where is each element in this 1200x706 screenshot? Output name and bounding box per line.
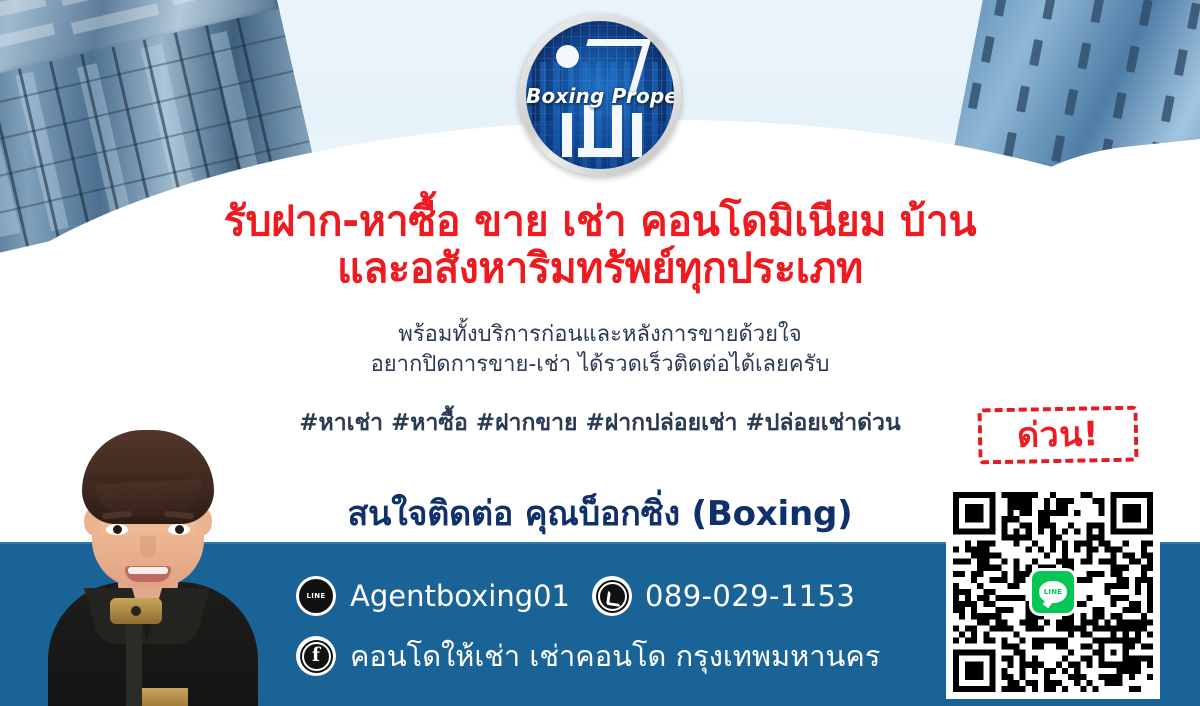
facebook-icon-label: f <box>312 646 320 665</box>
logo-brand-text: Boxing Property <box>526 84 674 108</box>
boxing-property-logo: Boxing Property <box>519 14 681 176</box>
qr-line-badge-icon: LINE <box>1029 568 1077 616</box>
phone-icon[interactable] <box>592 576 632 616</box>
headline-line-1: รับฝาก-หาซื้อ ขาย เช่า คอนโดมิเนียม บ้าน <box>0 198 1200 245</box>
line-icon-label: LINE <box>307 592 326 600</box>
subheadline-line-1: พร้อมทั้งบริการก่อนและหลังการขายด้วยใจ <box>0 320 1200 350</box>
qr-line-badge-label: LINE <box>1044 588 1063 596</box>
headline-line-2: และอสังหาริมทรัพย์ทุกประเภท <box>0 245 1200 292</box>
agent-portrait <box>14 412 282 706</box>
headline: รับฝาก-หาซื้อ ขาย เช่า คอนโดมิเนียม บ้าน… <box>0 198 1200 292</box>
logo-person-head-icon <box>556 45 579 68</box>
subheadline-line-2: อยากปิดการขาย-เช่า ได้รวดเร็วติดต่อได้เล… <box>0 350 1200 380</box>
urgent-stamp-label: ด่วน! <box>1017 417 1100 452</box>
phone-number-value[interactable]: 089-029-1153 <box>645 579 855 613</box>
line-icon[interactable]: LINE <box>296 576 336 616</box>
footer-row-facebook: f คอนโดให้เช่า เช่าคอนโด กรุงเทพมหานคร <box>296 636 880 676</box>
line-id-value[interactable]: Agentboxing01 <box>350 579 570 613</box>
urgent-stamp: ด่วน! <box>978 406 1139 465</box>
footer-row-line: LINE Agentboxing01 089-029-1153 <box>296 576 855 616</box>
facebook-icon[interactable]: f <box>296 636 336 676</box>
property-ad-banner: Boxing Property รับฝาก-หาซื้อ ขาย เช่า ค… <box>0 0 1200 706</box>
subheadline: พร้อมทั้งบริการก่อนและหลังการขายด้วยใจ อ… <box>0 320 1200 380</box>
facebook-page-value[interactable]: คอนโดให้เช่า เช่าคอนโด กรุงเทพมหานคร <box>350 639 880 673</box>
line-qr-code[interactable]: LINE <box>946 485 1160 699</box>
